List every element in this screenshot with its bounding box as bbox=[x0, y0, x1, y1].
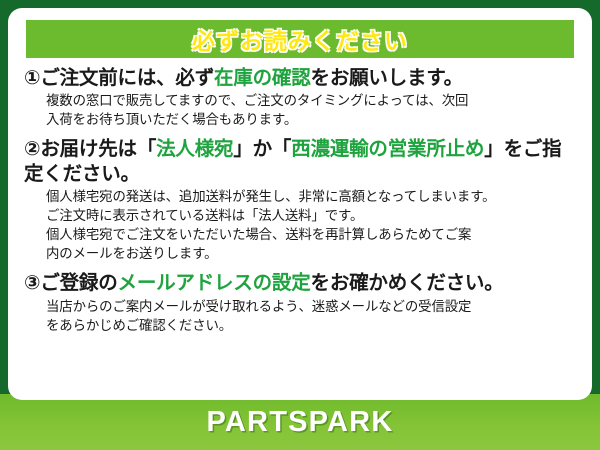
notice-body: ①ご注文前には、必ず在庫の確認をお願いします。 複数の窓口で販売してますので、ご… bbox=[18, 58, 582, 394]
notice-item-1-part-1-highlight: 在庫の確認 bbox=[214, 66, 311, 89]
notice-item-2-marker: ② bbox=[24, 137, 40, 160]
notice-item-2-part-1-highlight: 法人様宛 bbox=[156, 137, 233, 160]
notice-item-3-heading: ③ご登録のメールアドレスの設定をお確かめください。 bbox=[24, 271, 576, 295]
notice-item-2-detail: 個人様宅宛の発送は、追加送料が発生し、非常に高額となってしまいます。 ご注文時に… bbox=[24, 188, 576, 264]
notice-item-2: ②お届け先は「法人様宛」か「西濃運輸の営業所止め」をご指定ください。 個人様宅宛… bbox=[24, 137, 576, 264]
notice-item-1-heading: ①ご注文前には、必ず在庫の確認をお願いします。 bbox=[24, 66, 576, 90]
notice-item-1-detail-line-2: 入荷をお待ち頂いただく場合もあります。 bbox=[46, 111, 576, 130]
notice-item-1: ①ご注文前には、必ず在庫の確認をお願いします。 複数の窓口で販売してますので、ご… bbox=[24, 66, 576, 130]
notice-item-2-detail-line-4: 内のメールをお送りします。 bbox=[46, 245, 576, 264]
notice-item-1-part-2: をお願いします。 bbox=[311, 66, 463, 89]
notice-item-1-detail-line-1: 複数の窓口で販売してますので、ご注文のタイミングによっては、次回 bbox=[46, 92, 576, 111]
notice-item-3-part-2: をお確かめください。 bbox=[311, 271, 504, 294]
notice-item-2-part-3-highlight: 西濃運輸の営業所止め bbox=[291, 137, 484, 160]
notice-item-3-detail: 当店からのご案内メールが受け取れるよう、迷惑メールなどの受信設定 をあらかじめご… bbox=[24, 298, 576, 336]
notice-item-2-part-0: お届け先は「 bbox=[40, 137, 156, 160]
notice-item-2-detail-line-2: ご注文時に表示されている送料は「法人送料」です。 bbox=[46, 207, 576, 226]
notice-item-2-detail-line-3: 個人様宅宛でご注文をいただいた場合、送料を再計算しあらためてご案 bbox=[46, 226, 576, 245]
notice-item-2-part-2: 」か「 bbox=[233, 137, 291, 160]
notice-item-1-part-0: ご注文前には、必ず bbox=[40, 66, 214, 89]
notice-card: 必ずお読みください ①ご注文前には、必ず在庫の確認をお願いします。 複数の窓口で… bbox=[8, 8, 592, 400]
notice-item-3-part-0: ご登録の bbox=[40, 271, 117, 294]
notice-item-3-detail-line-1: 当店からのご案内メールが受け取れるよう、迷惑メールなどの受信設定 bbox=[46, 298, 576, 317]
notice-item-1-detail: 複数の窓口で販売してますので、ご注文のタイミングによっては、次回 入荷をお待ち頂… bbox=[24, 92, 576, 130]
notice-item-2-heading: ②お届け先は「法人様宛」か「西濃運輸の営業所止め」をご指定ください。 bbox=[24, 137, 576, 186]
notice-item-1-marker: ① bbox=[24, 66, 40, 89]
page-title: 必ずお読みください bbox=[192, 22, 408, 56]
notice-item-3-part-1-highlight: メールアドレスの設定 bbox=[118, 271, 311, 294]
notice-item-2-detail-line-1: 個人様宅宛の発送は、追加送料が発生し、非常に高額となってしまいます。 bbox=[46, 188, 576, 207]
notice-item-3: ③ご登録のメールアドレスの設定をお確かめください。 当店からのご案内メールが受け… bbox=[24, 271, 576, 335]
notice-item-3-detail-line-2: をあらかじめご確認ください。 bbox=[46, 317, 576, 336]
notice-title-bar: 必ずお読みください bbox=[26, 20, 574, 58]
notice-frame: 必ずお読みください ①ご注文前には、必ず在庫の確認をお願いします。 複数の窓口で… bbox=[0, 0, 600, 450]
brand-footer: PARTSPARK bbox=[0, 394, 600, 450]
brand-wordmark: PARTSPARK bbox=[207, 406, 394, 439]
notice-item-2-part-4: 」 bbox=[484, 137, 503, 160]
notice-item-3-marker: ③ bbox=[24, 271, 40, 294]
